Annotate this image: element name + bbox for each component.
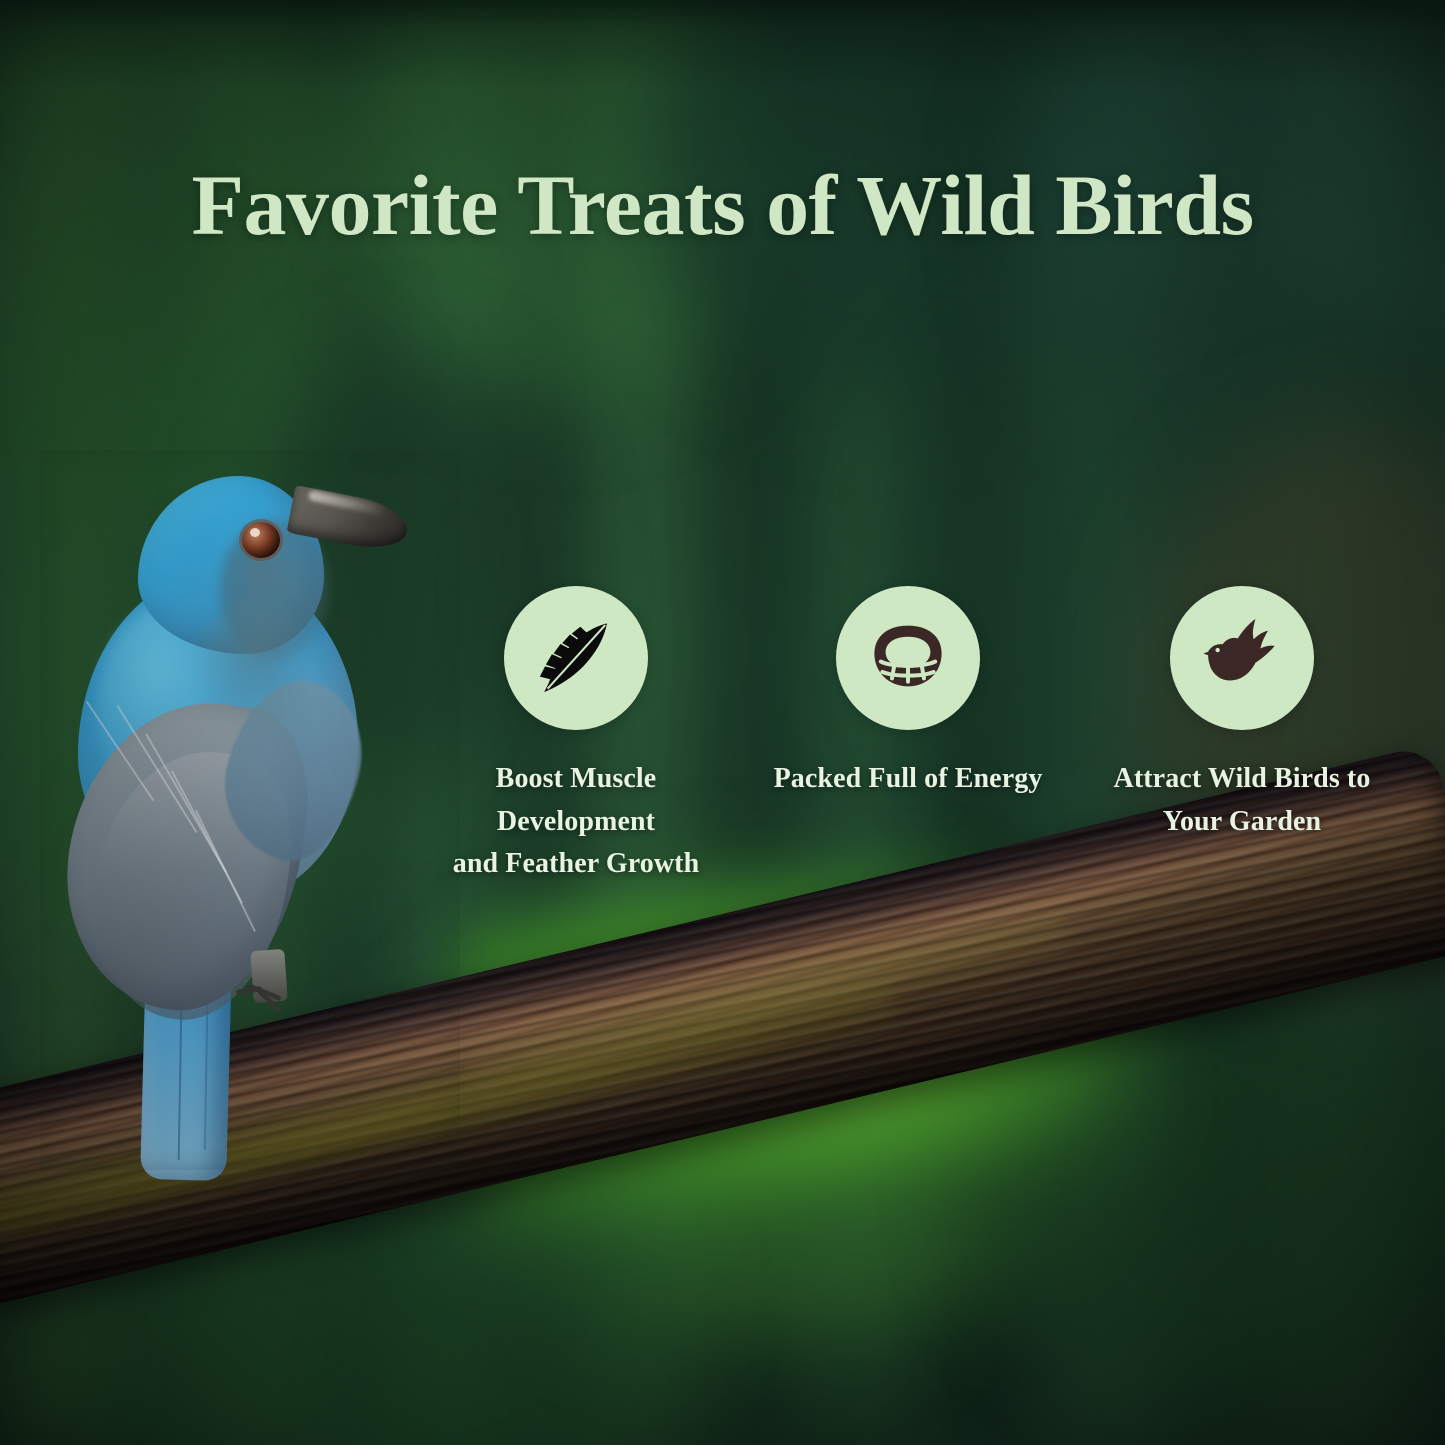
feature-label: Packed Full of Energy — [774, 758, 1043, 801]
feature-label-line: Your Garden — [1114, 801, 1371, 844]
feature-item-attract-birds: Attract Wild Birds to Your Garden — [1092, 586, 1392, 843]
feature-label-line: Attract Wild Birds to — [1114, 758, 1371, 801]
feature-item-energy: Packed Full of Energy — [758, 586, 1058, 801]
page-title: Favorite Treats of Wild Birds — [0, 162, 1445, 248]
feather-icon — [533, 613, 619, 704]
nest-basket-icon — [868, 616, 948, 701]
feature-icon-badge — [504, 586, 648, 730]
feature-label: Boost Muscle Development and Feather Gro… — [453, 758, 700, 886]
feature-row: Boost Muscle Development and Feather Gro… — [432, 586, 1392, 916]
feature-label-line: Packed Full of Energy — [774, 758, 1043, 801]
feature-label-line: Development — [453, 801, 700, 844]
feature-label-line: Boost Muscle — [453, 758, 700, 801]
feature-label: Attract Wild Birds to Your Garden — [1114, 758, 1371, 843]
product-poster: Favorite Treats of Wild Birds — [0, 0, 1445, 1445]
flying-bird-icon — [1200, 614, 1284, 703]
feature-item-muscle-development: Boost Muscle Development and Feather Gro… — [426, 586, 726, 886]
feature-label-line: and Feather Growth — [453, 843, 700, 886]
feature-icon-badge — [1170, 586, 1314, 730]
feature-icon-badge — [836, 586, 980, 730]
